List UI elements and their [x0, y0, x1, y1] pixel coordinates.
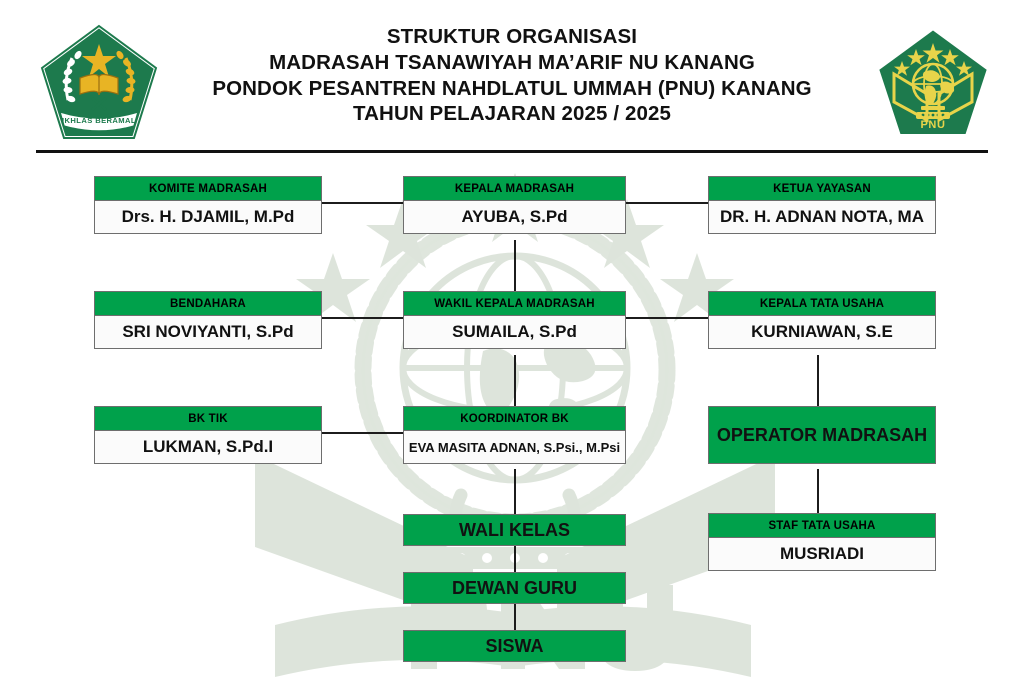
node-dewan-guru[interactable]: DEWAN GURU [403, 572, 626, 604]
node-wakil-kepala-madrasah-title: WAKIL KEPALA MADRASAH [404, 292, 625, 316]
node-bk-tik-name: LUKMAN, S.Pd.I [95, 431, 321, 463]
node-wakil-kepala-madrasah[interactable]: WAKIL KEPALA MADRASAH SUMAILA, S.Pd [403, 291, 626, 349]
node-siswa-name: SISWA [485, 631, 543, 661]
edge-wakil-koorbk [514, 355, 516, 407]
node-wali-kelas-name: WALI KELAS [459, 515, 570, 545]
node-wakil-kepala-madrasah-name: SUMAILA, S.Pd [404, 316, 625, 348]
title-line-2: MADRASAH TSANAWIYAH MA’ARIF NU KANANG [180, 50, 844, 76]
node-kepala-madrasah-title: KEPALA MADRASAH [404, 177, 625, 201]
node-kepala-tata-usaha-name: KURNIAWAN, S.E [709, 316, 935, 348]
edge-bktik-koorbk [322, 432, 404, 434]
title-line-3: PONDOK PESANTREN NAHDLATUL UMMAH (PNU) K… [180, 76, 844, 102]
edge-wakil-katu [625, 317, 709, 319]
node-kepala-tata-usaha[interactable]: KEPALA TATA USAHA KURNIAWAN, S.E [708, 291, 936, 349]
organization-chart-page: IKHLAS BERAMAL STRUKTUR ORGANISASI MADRA… [0, 0, 1024, 698]
title-line-4: TAHUN PELAJARAN 2025 / 2025 [180, 101, 844, 127]
node-komite-madrasah-title: KOMITE MADRASAH [95, 177, 321, 201]
node-bk-tik[interactable]: BK TIK LUKMAN, S.Pd.I [94, 406, 322, 464]
kemenag-logo: IKHLAS BERAMAL [38, 22, 160, 144]
edge-wali-guru [514, 546, 516, 573]
node-komite-madrasah-name: Drs. H. DJAMIL, M.Pd [95, 201, 321, 233]
page-title: STRUKTUR ORGANISASI MADRASAH TSANAWIYAH … [180, 24, 844, 127]
kemenag-banner-text: IKHLAS BERAMAL [62, 116, 136, 125]
node-bendahara-name: SRI NOVIYANTI, S.Pd [95, 316, 321, 348]
node-staf-tata-usaha-name: MUSRIADI [709, 538, 935, 570]
pnu-acronym-text: PNU [920, 119, 945, 131]
title-line-1: STRUKTUR ORGANISASI [180, 24, 844, 50]
node-staf-tata-usaha-title: STAF TATA USAHA [709, 514, 935, 538]
node-operator-madrasah[interactable]: OPERATOR MADRASAH [708, 406, 936, 464]
node-dewan-guru-name: DEWAN GURU [452, 573, 577, 603]
node-ketua-yayasan[interactable]: KETUA YAYASAN DR. H. ADNAN NOTA, MA [708, 176, 936, 234]
node-operator-madrasah-name: OPERATOR MADRASAH [717, 407, 927, 463]
node-ketua-yayasan-title: KETUA YAYASAN [709, 177, 935, 201]
node-ketua-yayasan-name: DR. H. ADNAN NOTA, MA [709, 201, 935, 233]
pnu-logo: PNU [872, 22, 994, 144]
edge-bendahara-wakil [322, 317, 404, 319]
node-koordinator-bk-title: KOORDINATOR BK [404, 407, 625, 431]
node-bendahara[interactable]: BENDAHARA SRI NOVIYANTI, S.Pd [94, 291, 322, 349]
node-wali-kelas[interactable]: WALI KELAS [403, 514, 626, 546]
node-kepala-madrasah[interactable]: KEPALA MADRASAH AYUBA, S.Pd [403, 176, 626, 234]
node-bendahara-title: BENDAHARA [95, 292, 321, 316]
node-staf-tata-usaha[interactable]: STAF TATA USAHA MUSRIADI [708, 513, 936, 571]
edge-katu-operator [817, 355, 819, 407]
node-kepala-madrasah-name: AYUBA, S.Pd [404, 201, 625, 233]
node-komite-madrasah[interactable]: KOMITE MADRASAH Drs. H. DJAMIL, M.Pd [94, 176, 322, 234]
node-koordinator-bk[interactable]: KOORDINATOR BK EVA MASITA ADNAN, S.Psi.,… [403, 406, 626, 464]
edge-koorbk-wali [514, 469, 516, 514]
header: IKHLAS BERAMAL STRUKTUR ORGANISASI MADRA… [0, 0, 1024, 152]
edge-kepala-yayasan [625, 202, 709, 204]
edge-komite-kepala [322, 202, 404, 204]
node-koordinator-bk-name: EVA MASITA ADNAN, S.Psi., M.Psi [404, 431, 625, 463]
node-bk-tik-title: BK TIK [95, 407, 321, 431]
node-kepala-tata-usaha-title: KEPALA TATA USAHA [709, 292, 935, 316]
header-divider [36, 150, 988, 153]
node-siswa[interactable]: SISWA [403, 630, 626, 662]
edge-guru-siswa [514, 604, 516, 631]
edge-kepala-wakil [514, 240, 516, 295]
edge-operator-staf [817, 469, 819, 513]
